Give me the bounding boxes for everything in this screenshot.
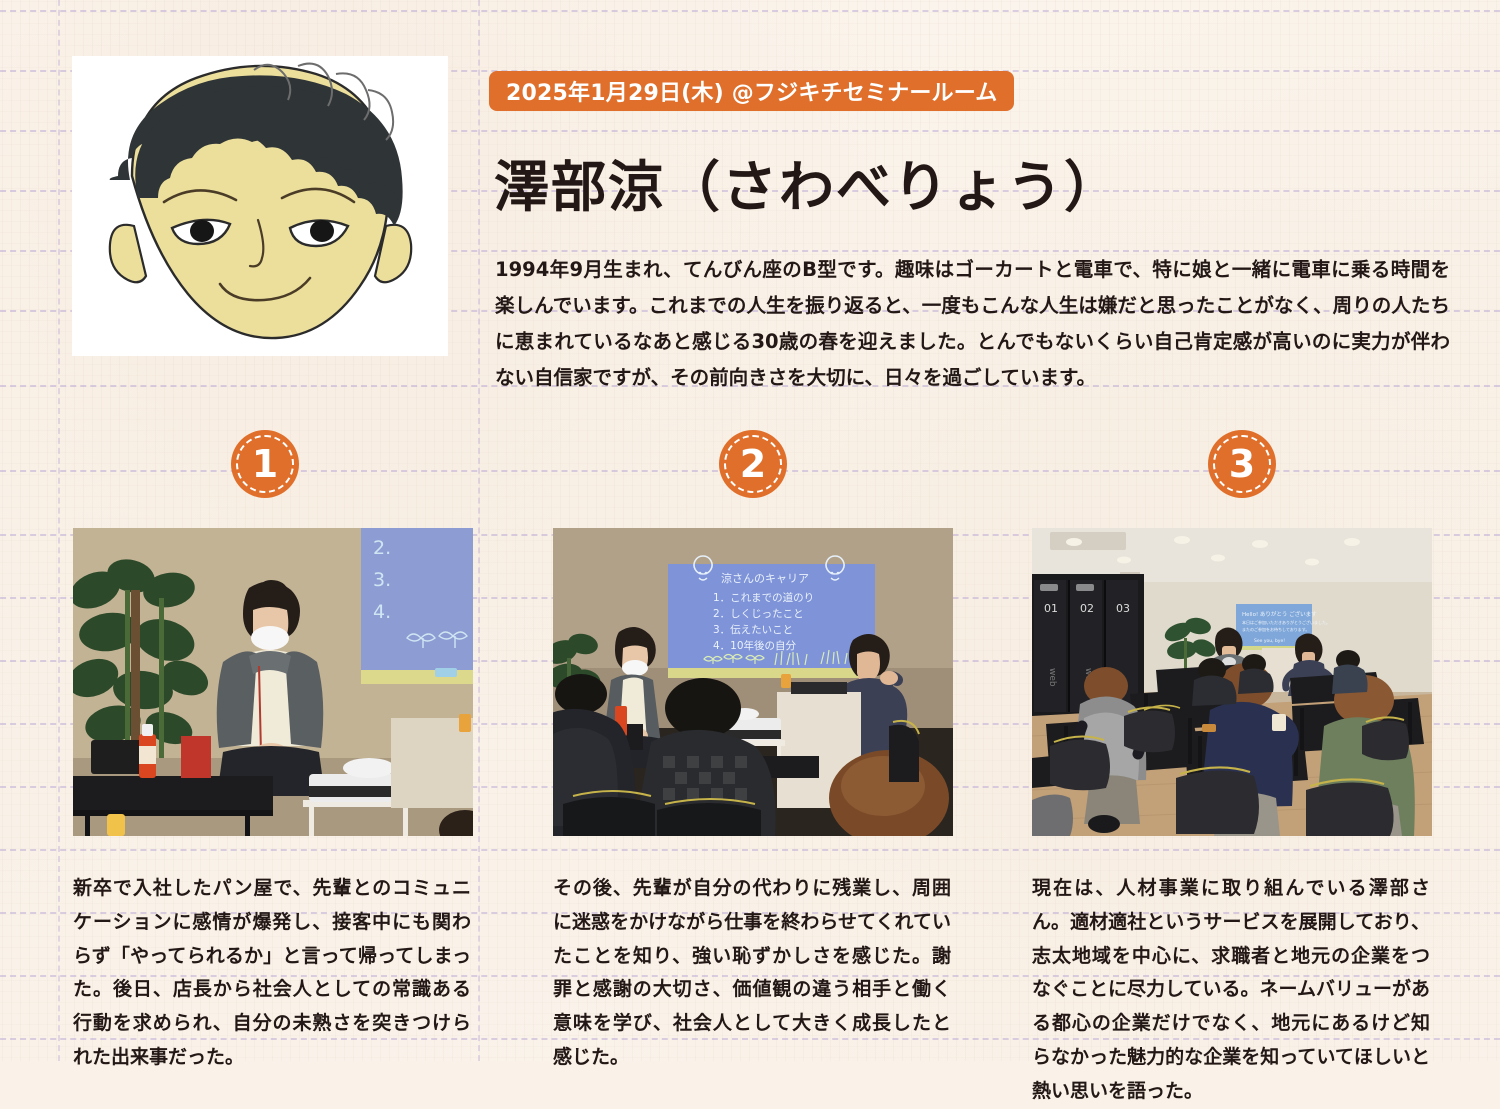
step-number: 2 xyxy=(740,445,766,483)
photo-3: 01 02 03 web web Hello! ありがとう ございます 本日はご… xyxy=(1032,528,1432,836)
svg-text:涼さんのキャリア: 涼さんのキャリア xyxy=(721,572,809,585)
svg-text:03: 03 xyxy=(1116,602,1130,615)
section-2: 涼さんのキャリア 1．これまでの道のり 2．しくじったこと 3．伝えたいこと 4… xyxy=(553,528,953,1075)
photo-2-image: 涼さんのキャリア 1．これまでの道のり 2．しくじったこと 3．伝えたいこと 4… xyxy=(553,528,953,836)
avatar xyxy=(72,56,448,356)
section-3: 01 02 03 web web Hello! ありがとう ございます 本日はご… xyxy=(1032,528,1432,1109)
svg-text:3．伝えたいこと: 3．伝えたいこと xyxy=(713,624,793,636)
svg-text:3.: 3. xyxy=(373,569,391,591)
photo-3-image: 01 02 03 web web Hello! ありがとう ございます 本日はご… xyxy=(1032,528,1432,836)
step-badge-3: 3 xyxy=(1208,430,1276,498)
date-location-badge: 2025年1月29日(木) @フジキチセミナールーム xyxy=(489,71,1014,111)
caption-1: 新卒で入社したパン屋で、先輩とのコミュニケーションに感情が爆発し、接客中にも関わ… xyxy=(73,872,471,1075)
svg-text:本日はご参加いただきありがとうございました。: 本日はご参加いただきありがとうございました。 xyxy=(1242,619,1330,625)
photo-1-image: 2. 3. 4. xyxy=(73,528,473,836)
svg-text:4．10年後の自分: 4．10年後の自分 xyxy=(713,639,797,652)
caption-3: 現在は、人材事業に取り組んでいる澤部さん。適材適社というサービスを展開しており、… xyxy=(1032,872,1430,1109)
svg-text:またのご参加をお待ちしております。: またのご参加をお待ちしております。 xyxy=(1242,626,1309,632)
step-badge-1: 1 xyxy=(231,430,299,498)
step-badge-2: 2 xyxy=(719,430,787,498)
bio-paragraph: 1994年9月生まれ、てんびん座のB型です。趣味はゴーカートと電車で、特に娘と一… xyxy=(495,252,1450,396)
svg-text:web: web xyxy=(1047,668,1057,687)
section-1: 2. 3. 4. xyxy=(73,528,473,1075)
svg-text:02: 02 xyxy=(1080,602,1094,615)
svg-text:1．これまでの道のり: 1．これまでの道のり xyxy=(713,591,814,604)
photo-1: 2. 3. 4. xyxy=(73,528,473,836)
photo-2: 涼さんのキャリア 1．これまでの道のり 2．しくじったこと 3．伝えたいこと 4… xyxy=(553,528,953,836)
svg-text:See you, bye!: See you, bye! xyxy=(1254,638,1285,644)
step-number: 1 xyxy=(252,445,278,483)
svg-text:2．しくじったこと: 2．しくじったこと xyxy=(713,608,804,620)
svg-text:2.: 2. xyxy=(373,537,391,559)
svg-text:4.: 4. xyxy=(373,601,391,623)
caption-2: その後、先輩が自分の代わりに残業し、周囲に迷惑をかけながら仕事を終わらせてくれて… xyxy=(553,872,951,1075)
step-number: 3 xyxy=(1229,445,1255,483)
avatar-illustration xyxy=(72,56,448,356)
svg-text:Hello! ありがとう ございます: Hello! ありがとう ございます xyxy=(1242,610,1317,618)
page-title: 澤部涼（さわべりょう） xyxy=(494,142,1121,222)
svg-text:01: 01 xyxy=(1044,602,1058,615)
